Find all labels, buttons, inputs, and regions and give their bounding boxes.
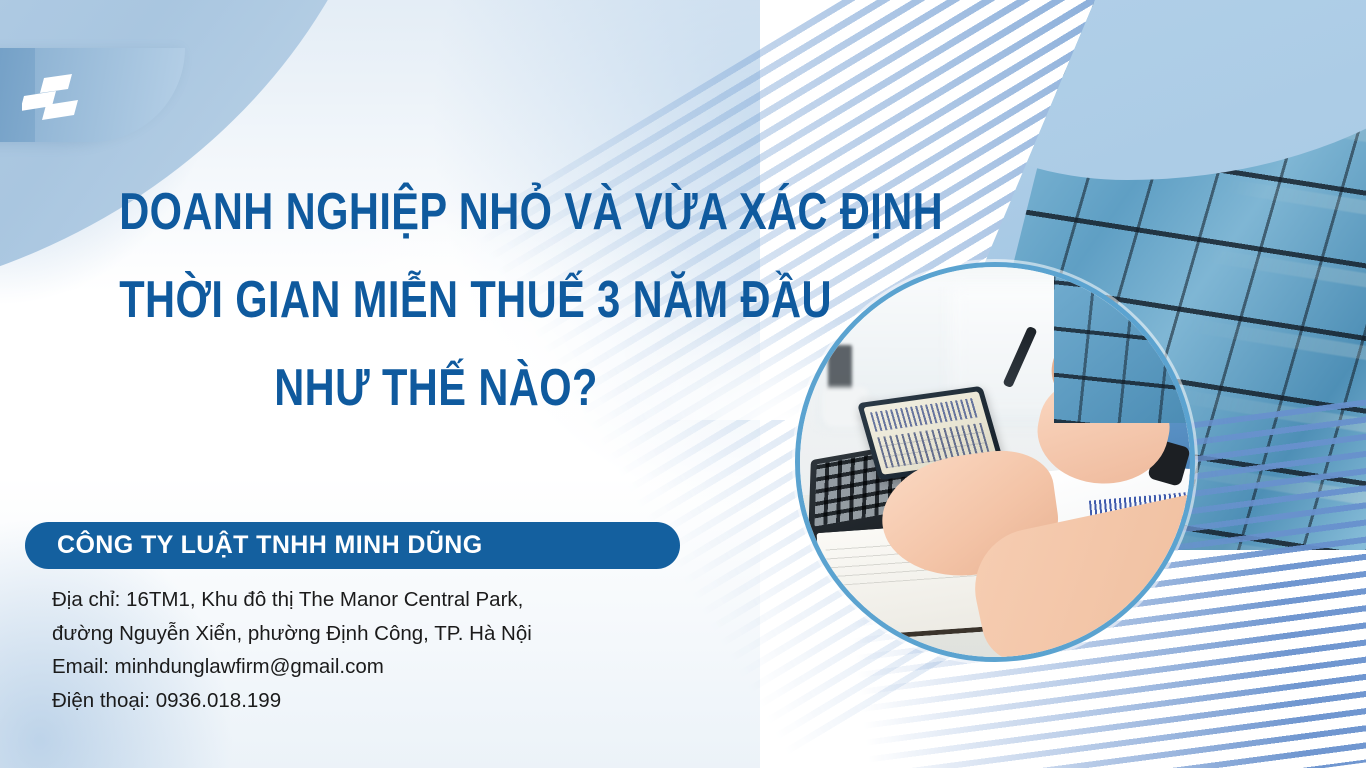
banner-canvas: DOANH NGHIỆP NHỎ VÀ VỪA XÁC ĐỊNH THỜI GI…	[0, 0, 1366, 768]
contact-address-line-2: đường Nguyễn Xiển, phường Định Công, TP.…	[52, 617, 692, 651]
headline-line-1: DOANH NGHIỆP NHỎ VÀ VỪA XÁC ĐỊNH	[119, 168, 753, 256]
headline-line-2: THỜI GIAN MIỄN THUẾ 3 NĂM ĐẦU	[119, 256, 753, 344]
headline-line-3: NHƯ THẾ NÀO?	[119, 344, 753, 432]
window-glass-reflection	[1054, 263, 1194, 423]
contact-address-line-1: Địa chỉ: 16TM1, Khu đô thị The Manor Cen…	[52, 583, 692, 617]
company-name-badge: CÔNG TY LUẬT TNHH MINH DŨNG	[25, 522, 680, 569]
three-slanted-bars-logo-icon[interactable]	[22, 72, 80, 126]
contact-phone: Điện thoại: 0936.018.199	[52, 684, 692, 718]
contact-info-block: Địa chỉ: 16TM1, Khu đô thị The Manor Cen…	[52, 583, 692, 717]
page-title: DOANH NGHIỆP NHỎ VÀ VỪA XÁC ĐỊNH THỜI GI…	[40, 168, 832, 432]
office-tablet-discussion-photo	[795, 262, 1195, 662]
company-name-label: CÔNG TY LUẬT TNHH MINH DŨNG	[57, 531, 483, 560]
contact-email: Email: minhdunglawfirm@gmail.com	[52, 650, 692, 684]
